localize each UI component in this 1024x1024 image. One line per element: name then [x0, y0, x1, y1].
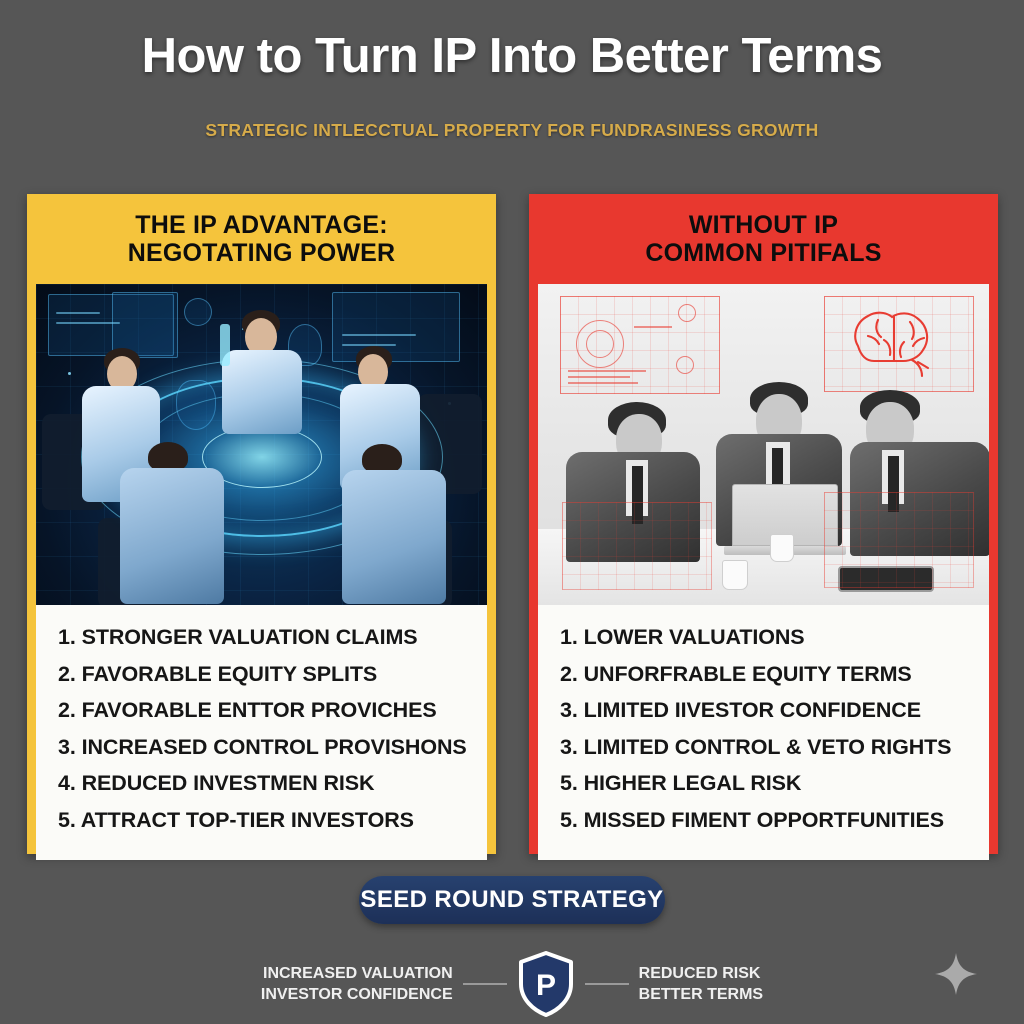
- illustration-holographic-lab: [36, 284, 487, 605]
- list-item: 5. HIGHER LEGAL RISK: [560, 773, 989, 795]
- seed-round-strategy-banner[interactable]: SEED ROUND STRATEGY: [359, 876, 665, 924]
- hud-badge-icon: [678, 304, 696, 322]
- footer-connector-right: [585, 983, 629, 985]
- hud-network-icon: [676, 356, 694, 374]
- panel-left-header-line1: THE IP ADVANTAGE:: [135, 211, 388, 240]
- sparkle-icon: [934, 952, 978, 996]
- hud-frame-lower-right: [824, 492, 974, 588]
- footer-right-line1: REDUCED RISK: [639, 963, 763, 984]
- hud-frame-lower-left: [562, 502, 712, 590]
- shield-icon: P: [517, 951, 575, 1017]
- list-item: 5. ATTRACT TOP-TIER INVESTORS: [58, 810, 487, 832]
- list-item: 3. INCREASED CONTROL PROVISHONS: [58, 737, 487, 759]
- brain-icon: [838, 300, 962, 386]
- footer-left-text: INCREASED VALUATION INVESTOR CONFIDENCE: [261, 963, 453, 1005]
- panel-right-header-line1: WITHOUT IP: [689, 211, 838, 240]
- list-item: 3. LIMITED CONTROL & VETO RIGHTS: [560, 737, 989, 759]
- benefits-list: 1. STRONGER VALUATION CLAIMS 2. FAVORABL…: [36, 605, 487, 860]
- panel-left-body: 1. STRONGER VALUATION CLAIMS 2. FAVORABL…: [27, 284, 496, 869]
- scientist-labcoat: [120, 468, 224, 604]
- holo-data-line: [56, 322, 120, 324]
- holo-data-line: [342, 334, 416, 336]
- holo-gauge-icon: [184, 298, 212, 326]
- coffee-mug: [722, 560, 748, 590]
- footer-left-line1: INCREASED VALUATION: [261, 963, 453, 984]
- hud-data-line: [568, 382, 638, 384]
- hud-data-line: [568, 376, 630, 378]
- footer-left-line2: INVESTOR CONFIDENCE: [261, 984, 453, 1005]
- hud-data-line: [634, 326, 672, 328]
- list-item: 4. REDUCED INVESTMEN RISK: [58, 773, 487, 795]
- footer-right-text: REDUCED RISK BETTER TERMS: [639, 963, 763, 1005]
- panel-right-header-line2: COMMON PITIFALS: [645, 239, 881, 268]
- footer-right-line2: BETTER TERMS: [639, 984, 763, 1005]
- panel-right-body: 1. LOWER VALUATIONS 2. UNFORFRABLE EQUIT…: [529, 284, 998, 869]
- holo-particle: [68, 372, 71, 375]
- panel-left-header-line2: NEGOTATING POWER: [128, 239, 396, 268]
- list-item: 2. UNFORFRABLE EQUITY TERMS: [560, 664, 989, 686]
- page-subtitle: STRATEGIC INTLECCTUAL PROPERTY FOR FUNDR…: [0, 120, 1024, 141]
- footer-connector-left: [463, 983, 507, 985]
- list-item: 2. FAVORABLE ENTTOR PROVICHES: [58, 700, 487, 722]
- list-item: 2. FAVORABLE EQUITY SPLITS: [58, 664, 487, 686]
- list-item: 3. LIMITED IIVESTOR CONFIDENCE: [560, 700, 989, 722]
- hud-ring-inner-icon: [586, 330, 614, 358]
- footer: INCREASED VALUATION INVESTOR CONFIDENCE …: [0, 950, 1024, 1018]
- illustration-frustrated-boardroom: [538, 284, 989, 605]
- panel-left-header: THE IP ADVANTAGE: NEGOTATING POWER: [27, 194, 496, 284]
- shield-badge: P: [517, 951, 575, 1017]
- holo-data-line: [56, 312, 100, 314]
- list-item: 5. MISSED FIMENT OPPORTFUNITIES: [560, 810, 989, 832]
- test-tube: [220, 324, 230, 366]
- page-title: How to Turn IP Into Better Terms: [0, 28, 1024, 84]
- holo-screen-analytics: [332, 292, 460, 362]
- scientist-labcoat: [342, 470, 446, 604]
- shield-letter: P: [536, 969, 556, 1002]
- panel-ip-advantage: THE IP ADVANTAGE: NEGOTATING POWER: [27, 194, 496, 854]
- list-item: 1. STRONGER VALUATION CLAIMS: [58, 627, 487, 649]
- scientist-labcoat: [222, 350, 302, 434]
- pitfalls-list: 1. LOWER VALUATIONS 2. UNFORFRABLE EQUIT…: [538, 605, 989, 860]
- list-item: 1. LOWER VALUATIONS: [560, 627, 989, 649]
- hud-data-line: [568, 370, 646, 372]
- coffee-mug: [770, 534, 794, 562]
- panel-without-ip: WITHOUT IP COMMON PITIFALS: [529, 194, 998, 854]
- panel-right-header: WITHOUT IP COMMON PITIFALS: [529, 194, 998, 284]
